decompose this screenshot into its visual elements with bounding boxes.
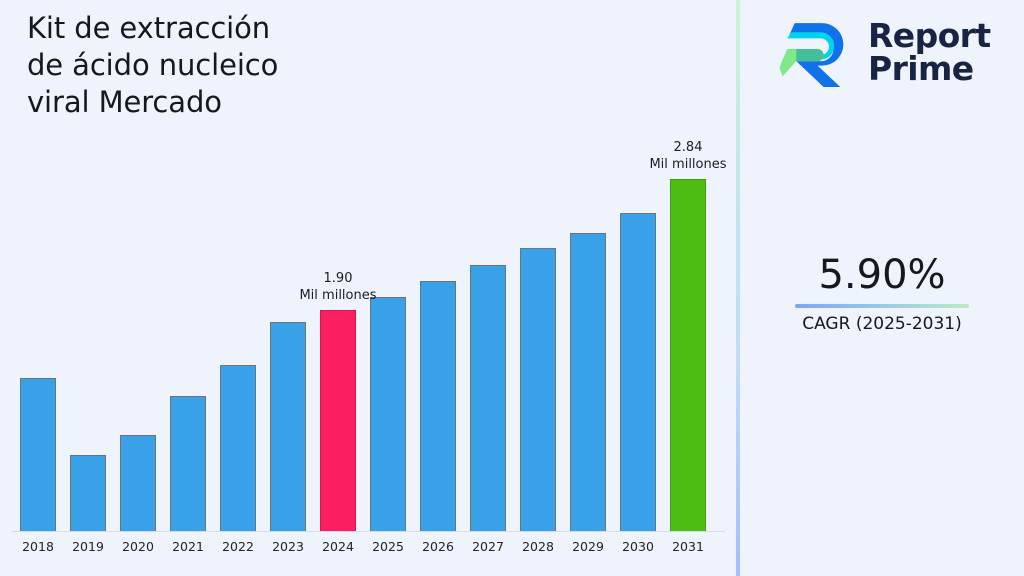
chart-canvas: Kit de extracción de ácido nucleico vira…	[0, 0, 1024, 576]
bar-2022	[220, 365, 256, 531]
bar-2025	[370, 297, 406, 531]
x-tick-2028: 2028	[513, 539, 563, 554]
bar-2028	[520, 248, 556, 531]
x-tick-2025: 2025	[363, 539, 413, 554]
data-label-2024: 1.90 Mil millones	[258, 270, 418, 304]
x-tick-2031: 2031	[663, 539, 713, 554]
cagr-caption: CAGR (2025-2031)	[740, 313, 1024, 335]
x-tick-2018: 2018	[13, 539, 63, 554]
bar-2024	[320, 310, 356, 531]
x-tick-2022: 2022	[213, 539, 263, 554]
x-tick-2019: 2019	[63, 539, 113, 554]
cagr-block: 5.90% CAGR (2025-2031)	[740, 252, 1024, 335]
bar-2023	[270, 322, 306, 531]
x-tick-2023: 2023	[263, 539, 313, 554]
bar-2030	[620, 213, 656, 531]
x-tick-2021: 2021	[163, 539, 213, 554]
bar-2019	[70, 455, 106, 531]
x-tick-2026: 2026	[413, 539, 463, 554]
x-tick-2027: 2027	[463, 539, 513, 554]
report-prime-r-logo-icon	[778, 14, 854, 90]
right-info-panel: Report Prime 5.90% CAGR (2025-2031)	[740, 0, 1024, 576]
x-tick-2030: 2030	[613, 539, 663, 554]
brand-logo: Report Prime	[778, 14, 991, 90]
bar-2018	[20, 378, 56, 531]
x-tick-2024: 2024	[313, 539, 363, 554]
bar-2026	[420, 281, 456, 531]
cagr-divider-rule	[795, 304, 969, 308]
bar-2031	[670, 179, 706, 531]
bar-2020	[120, 435, 156, 531]
bar-2021	[170, 396, 206, 531]
bar-chart-plot-area: 1.90 Mil millones 2.84 Mil millones 2018…	[0, 0, 736, 576]
bar-2029	[570, 233, 606, 531]
x-tick-2029: 2029	[563, 539, 613, 554]
x-tick-2020: 2020	[113, 539, 163, 554]
x-axis-line	[12, 531, 725, 532]
brand-wordmark: Report Prime	[868, 19, 991, 85]
bar-2027	[470, 265, 506, 531]
cagr-value: 5.90%	[740, 252, 1024, 298]
